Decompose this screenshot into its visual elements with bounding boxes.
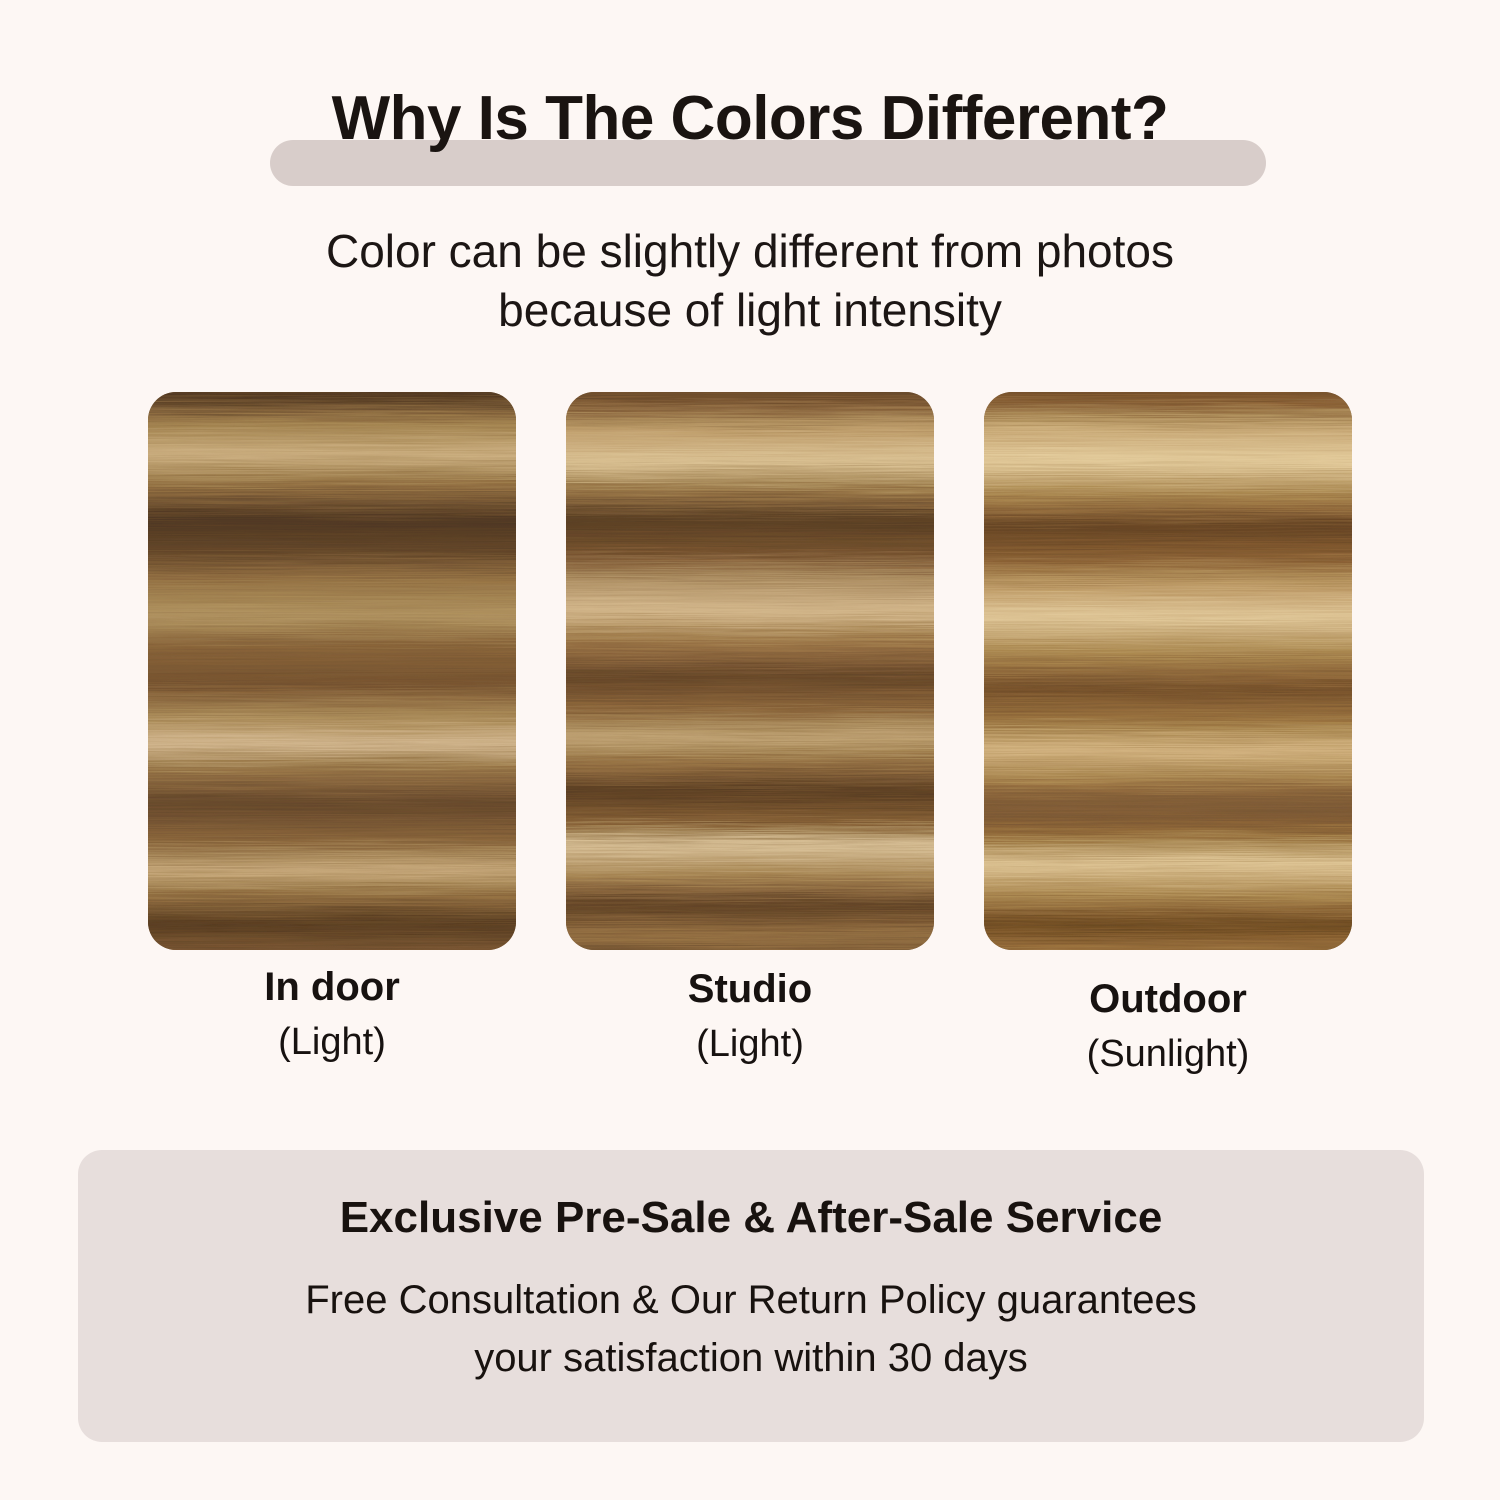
hair-texture-outdoor-icon	[984, 392, 1352, 950]
subtitle-line-1: Color can be slightly different from pho…	[0, 222, 1500, 281]
service-panel-title: Exclusive Pre-Sale & After-Sale Service	[78, 1192, 1424, 1245]
service-body-line-1: Free Consultation & Our Return Policy gu…	[78, 1271, 1424, 1329]
swatch-cell-outdoor	[984, 392, 1352, 950]
page-heading-block: Why Is The Colors Different?	[0, 86, 1500, 151]
caption-outdoor-subtitle: (Sunlight)	[984, 1030, 1352, 1079]
color-comparison-row	[148, 392, 1352, 950]
hair-texture-studio-icon	[566, 392, 934, 950]
hair-swatch-indoor-image	[148, 392, 516, 950]
caption-outdoor: Outdoor (Sunlight)	[984, 974, 1352, 1079]
service-body-line-2: your satisfaction within 30 days	[78, 1329, 1424, 1387]
service-panel-body: Free Consultation & Our Return Policy gu…	[78, 1271, 1424, 1387]
hair-swatch-outdoor-image	[984, 392, 1352, 950]
caption-studio-subtitle: (Light)	[566, 1020, 934, 1069]
swatch-captions-row: In door (Light) Studio (Light) Outdoor (…	[148, 962, 1352, 1092]
hair-swatch-studio-image	[566, 392, 934, 950]
page-subtitle: Color can be slightly different from pho…	[0, 222, 1500, 340]
hair-texture-indoor-icon	[148, 392, 516, 950]
caption-studio-title: Studio	[566, 964, 934, 1014]
swatch-cell-studio	[566, 392, 934, 950]
caption-indoor: In door (Light)	[148, 962, 516, 1067]
caption-indoor-subtitle: (Light)	[148, 1018, 516, 1067]
service-panel: Exclusive Pre-Sale & After-Sale Service …	[78, 1150, 1424, 1442]
caption-studio: Studio (Light)	[566, 964, 934, 1069]
caption-indoor-title: In door	[148, 962, 516, 1012]
caption-outdoor-title: Outdoor	[984, 974, 1352, 1024]
swatch-cell-indoor	[148, 392, 516, 950]
page-title: Why Is The Colors Different?	[332, 86, 1169, 151]
promo-infographic: Why Is The Colors Different? Color can b…	[0, 0, 1500, 1500]
subtitle-line-2: because of light intensity	[0, 281, 1500, 340]
